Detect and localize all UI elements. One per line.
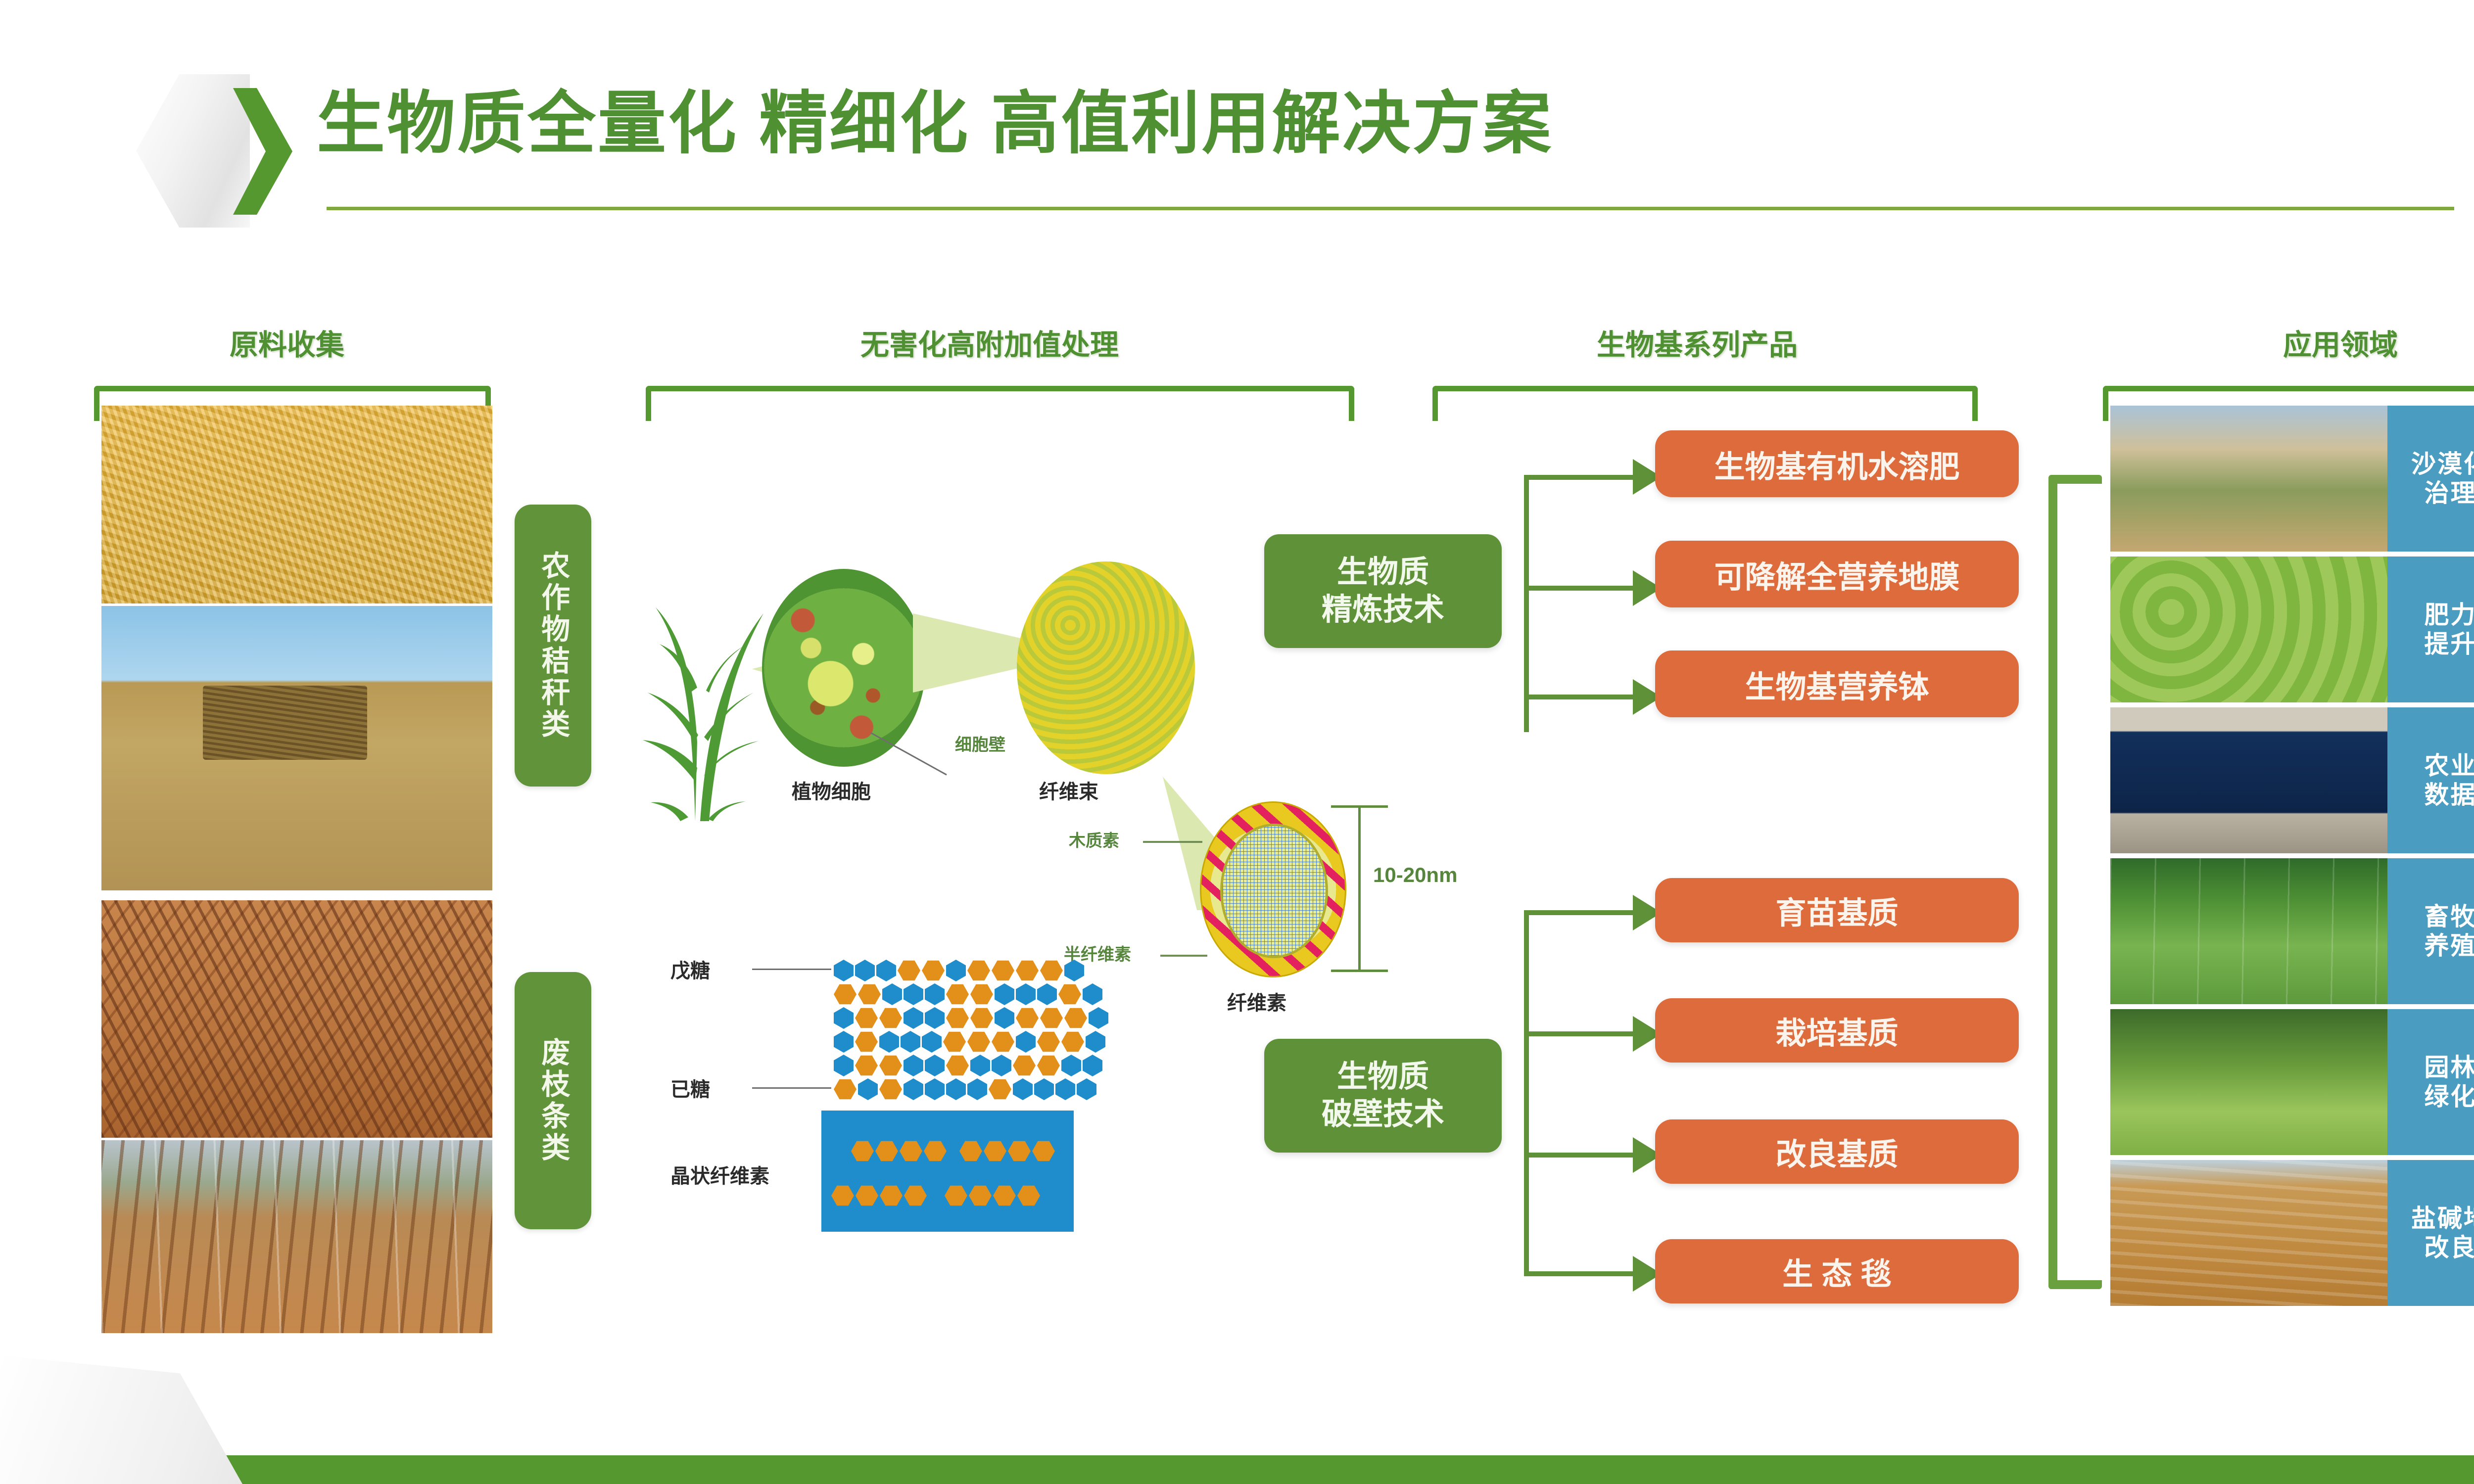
application-label-saline-alkali: 盐碱地 改良 [2387,1160,2474,1306]
application-photo-park-lawn-trees [2110,1009,2387,1155]
application-fertility-line2: 提升 [2425,630,2474,659]
application-label-agri-data: 农业 数据 [2387,707,2474,853]
label-hexose: 已糖 [670,1073,710,1102]
flow-branch-breaking-4 [1524,1271,1638,1276]
page-title: 生物质全量化 精细化 高值利用解决方案 [317,87,1999,162]
application-agri-data-line2: 数据 [2425,781,2474,810]
dimension-line-vertical [1358,805,1361,972]
leader-line-hemicellulose [1160,955,1207,957]
label-pentose: 戊糖 [670,955,710,983]
label-plant-cell: 植物细胞 [792,776,871,804]
application-label-desertification: 沙漠化 治理 [2387,406,2474,552]
flow-branch-refining-2 [1524,586,1638,591]
technology-refining-line2: 精炼技术 [1322,591,1444,629]
application-saline-alkali-line1: 盐碱地 [2411,1204,2474,1233]
stage-bracket-bio-products [1432,386,1978,421]
product-pill-degradable-mulch-film[interactable]: 可降解全营养地膜 [1655,541,2019,607]
stage-title-bio-products: 生物基系列产品 [1425,322,1969,363]
flow-branch-breaking-3 [1524,1153,1638,1158]
raw-category-pill-crop-straw[interactable]: 农作物秸秆类 [515,505,591,787]
application-desertification-line1: 沙漠化 [2411,450,2474,479]
application-row-agri-data[interactable]: 农业 数据 [2110,707,2474,853]
raw-category-label-crop-straw: 农作物秸秆类 [538,551,568,741]
stage-title-harmless-processing: 无害化高附加值处理 [618,322,1361,363]
hexagon-shape [136,74,250,228]
application-landscaping-line2: 绿化 [2425,1082,2474,1112]
application-livestock-line2: 养殖 [2425,931,2474,961]
dimension-tick-bottom [1331,970,1388,972]
dimension-tick-top [1331,805,1388,808]
footer-accent-bar [0,1455,2474,1484]
application-agri-data-line1: 农业 [2425,751,2474,781]
sugar-chain-row [834,1055,1102,1076]
technology-pill-refining[interactable]: 生物质 精炼技术 [1264,534,1502,648]
application-row-livestock[interactable]: 畜牧 养殖 [2110,858,2474,1004]
product-pill-nutrition-pot[interactable]: 生物基营养钵 [1655,650,2019,717]
flow-trunk-breaking [1524,910,1529,1276]
product-pill-ecological-blanket[interactable]: 生 态 毯 [1655,1239,2019,1303]
leader-line-pentose [752,969,831,970]
application-row-fertility[interactable]: 肥力 提升 [2110,556,2474,702]
label-crystalline-cellulose: 晶状纤维素 [670,1160,769,1189]
fiber-bundle-illustration [1017,561,1195,774]
raw-category-label-waste-branches: 废枝条类 [538,1037,568,1164]
technology-breaking-line2: 破壁技术 [1322,1096,1444,1133]
sugar-chain-row [834,1078,1096,1100]
raw-photo-corn-stalk-field [101,406,492,603]
application-livestock-line1: 畜牧 [2425,902,2474,931]
application-row-desertification[interactable]: 沙漠化 治理 [2110,406,2474,552]
raw-photo-orchard-pruning-collection [101,1140,492,1333]
flow-branch-breaking-2 [1524,1031,1638,1036]
technology-breaking-line1: 生物质 [1322,1058,1444,1096]
application-photo-desert-control-site [2110,406,2387,552]
application-photo-sheep-grazing-pasture [2110,858,2387,1004]
sugar-chain-row [834,1007,1108,1029]
applications-group-bracket [2048,475,2102,1289]
application-photo-data-control-room [2110,707,2387,853]
leader-line-hexose [752,1087,831,1089]
title-underline-rule [327,207,2454,210]
label-cellulose: 纤维素 [1227,987,1286,1016]
technology-refining-line1: 生物质 [1322,554,1444,591]
application-row-saline-alkali[interactable]: 盐碱地 改良 [2110,1160,2474,1306]
product-pill-seedling-substrate[interactable]: 育苗基质 [1655,878,2019,942]
raw-photo-straw-bale-field [101,606,492,890]
product-pill-water-soluble-fertilizer[interactable]: 生物基有机水溶肥 [1655,430,2019,497]
application-photo-cabbage-field [2110,556,2387,702]
plant-cell-illustration [762,569,925,767]
sugar-chain-row [834,1031,1105,1053]
raw-photo-pruned-branches [101,900,492,1138]
sugar-chain-row [834,983,1102,1005]
application-label-landscaping: 园林 绿化 [2387,1009,2474,1155]
application-saline-alkali-line2: 改良 [2411,1233,2474,1262]
label-fibril-diameter: 10-20nm [1373,863,1457,887]
label-lignin: 木质素 [1069,827,1119,851]
crystalline-cellulose-illustration [821,1111,1074,1232]
application-row-landscaping[interactable]: 园林 绿化 [2110,1009,2474,1155]
plant-silhouette-icon [621,544,784,821]
flow-trunk-refining [1524,475,1529,732]
application-label-fertility: 肥力 提升 [2387,556,2474,702]
cellulose-core [1220,824,1328,958]
flow-branch-refining-1 [1524,475,1638,480]
product-pill-improvement-substrate[interactable]: 改良基质 [1655,1119,2019,1184]
sugar-chain-row [834,960,1084,981]
technology-pill-cell-wall-breaking[interactable]: 生物质 破壁技术 [1264,1039,1502,1153]
logo-hexagon-mark [136,74,285,228]
application-photo-saline-alkali-land [2110,1160,2387,1306]
stage-title-applications: 应用领域 [2093,322,2474,363]
cellulose-fibril-cross-section [1200,801,1346,977]
raw-category-pill-waste-branches[interactable]: 废枝条类 [515,972,591,1229]
application-label-livestock: 畜牧 养殖 [2387,858,2474,1004]
application-fertility-line1: 肥力 [2425,601,2474,630]
stage-bracket-harmless-processing [646,386,1354,421]
stage-title-raw-collection: 原料收集 [89,322,485,363]
application-landscaping-line1: 园林 [2425,1053,2474,1082]
label-cell-wall: 细胞壁 [955,731,1005,755]
leader-line-lignin [1143,841,1202,843]
flow-branch-breaking-1 [1524,910,1638,915]
flow-branch-refining-3 [1524,695,1638,699]
application-desertification-line2: 治理 [2411,479,2474,508]
product-pill-cultivation-substrate[interactable]: 栽培基质 [1655,998,2019,1063]
label-fiber-bundle: 纤维束 [1039,776,1098,804]
